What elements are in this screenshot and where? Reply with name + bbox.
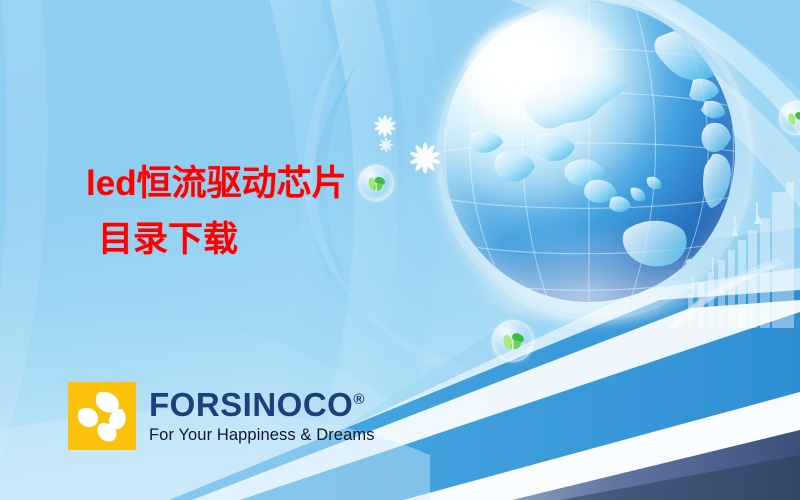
headline-block: led恒流驱动芯片 目录下载 — [86, 163, 446, 261]
headline-line-1-cjk: 恒流驱动芯片 — [137, 164, 347, 203]
city-skyline-icon — [668, 178, 800, 328]
headline-line-2: 目录下载 — [86, 219, 446, 262]
headline-line-1: led恒流驱动芯片 — [86, 163, 446, 206]
logo-wordmark: FORSINOCO® — [149, 388, 375, 421]
bubble-with-sprout — [779, 101, 800, 135]
headline-line-1-latin: led — [86, 164, 137, 203]
registered-trademark-icon: ® — [353, 391, 365, 408]
bubble-with-sprout — [492, 320, 534, 362]
daisy-flower-icon — [373, 114, 397, 138]
logo-name-text: FORSINOCO — [149, 386, 353, 423]
green-sprout-icon — [492, 320, 534, 362]
pinwheel-clover-icon — [68, 382, 136, 450]
banner-canvas: led恒流驱动芯片 目录下载 FORSINOCO® For Your Happi… — [0, 0, 800, 500]
logo-tagline: For Your Happiness & Dreams — [149, 427, 375, 444]
green-sprout-icon — [779, 101, 800, 135]
brand-logo[interactable]: FORSINOCO® For Your Happiness & Dreams — [68, 382, 375, 450]
daisy-flower-icon — [378, 137, 394, 153]
logo-mark-square — [68, 382, 136, 450]
